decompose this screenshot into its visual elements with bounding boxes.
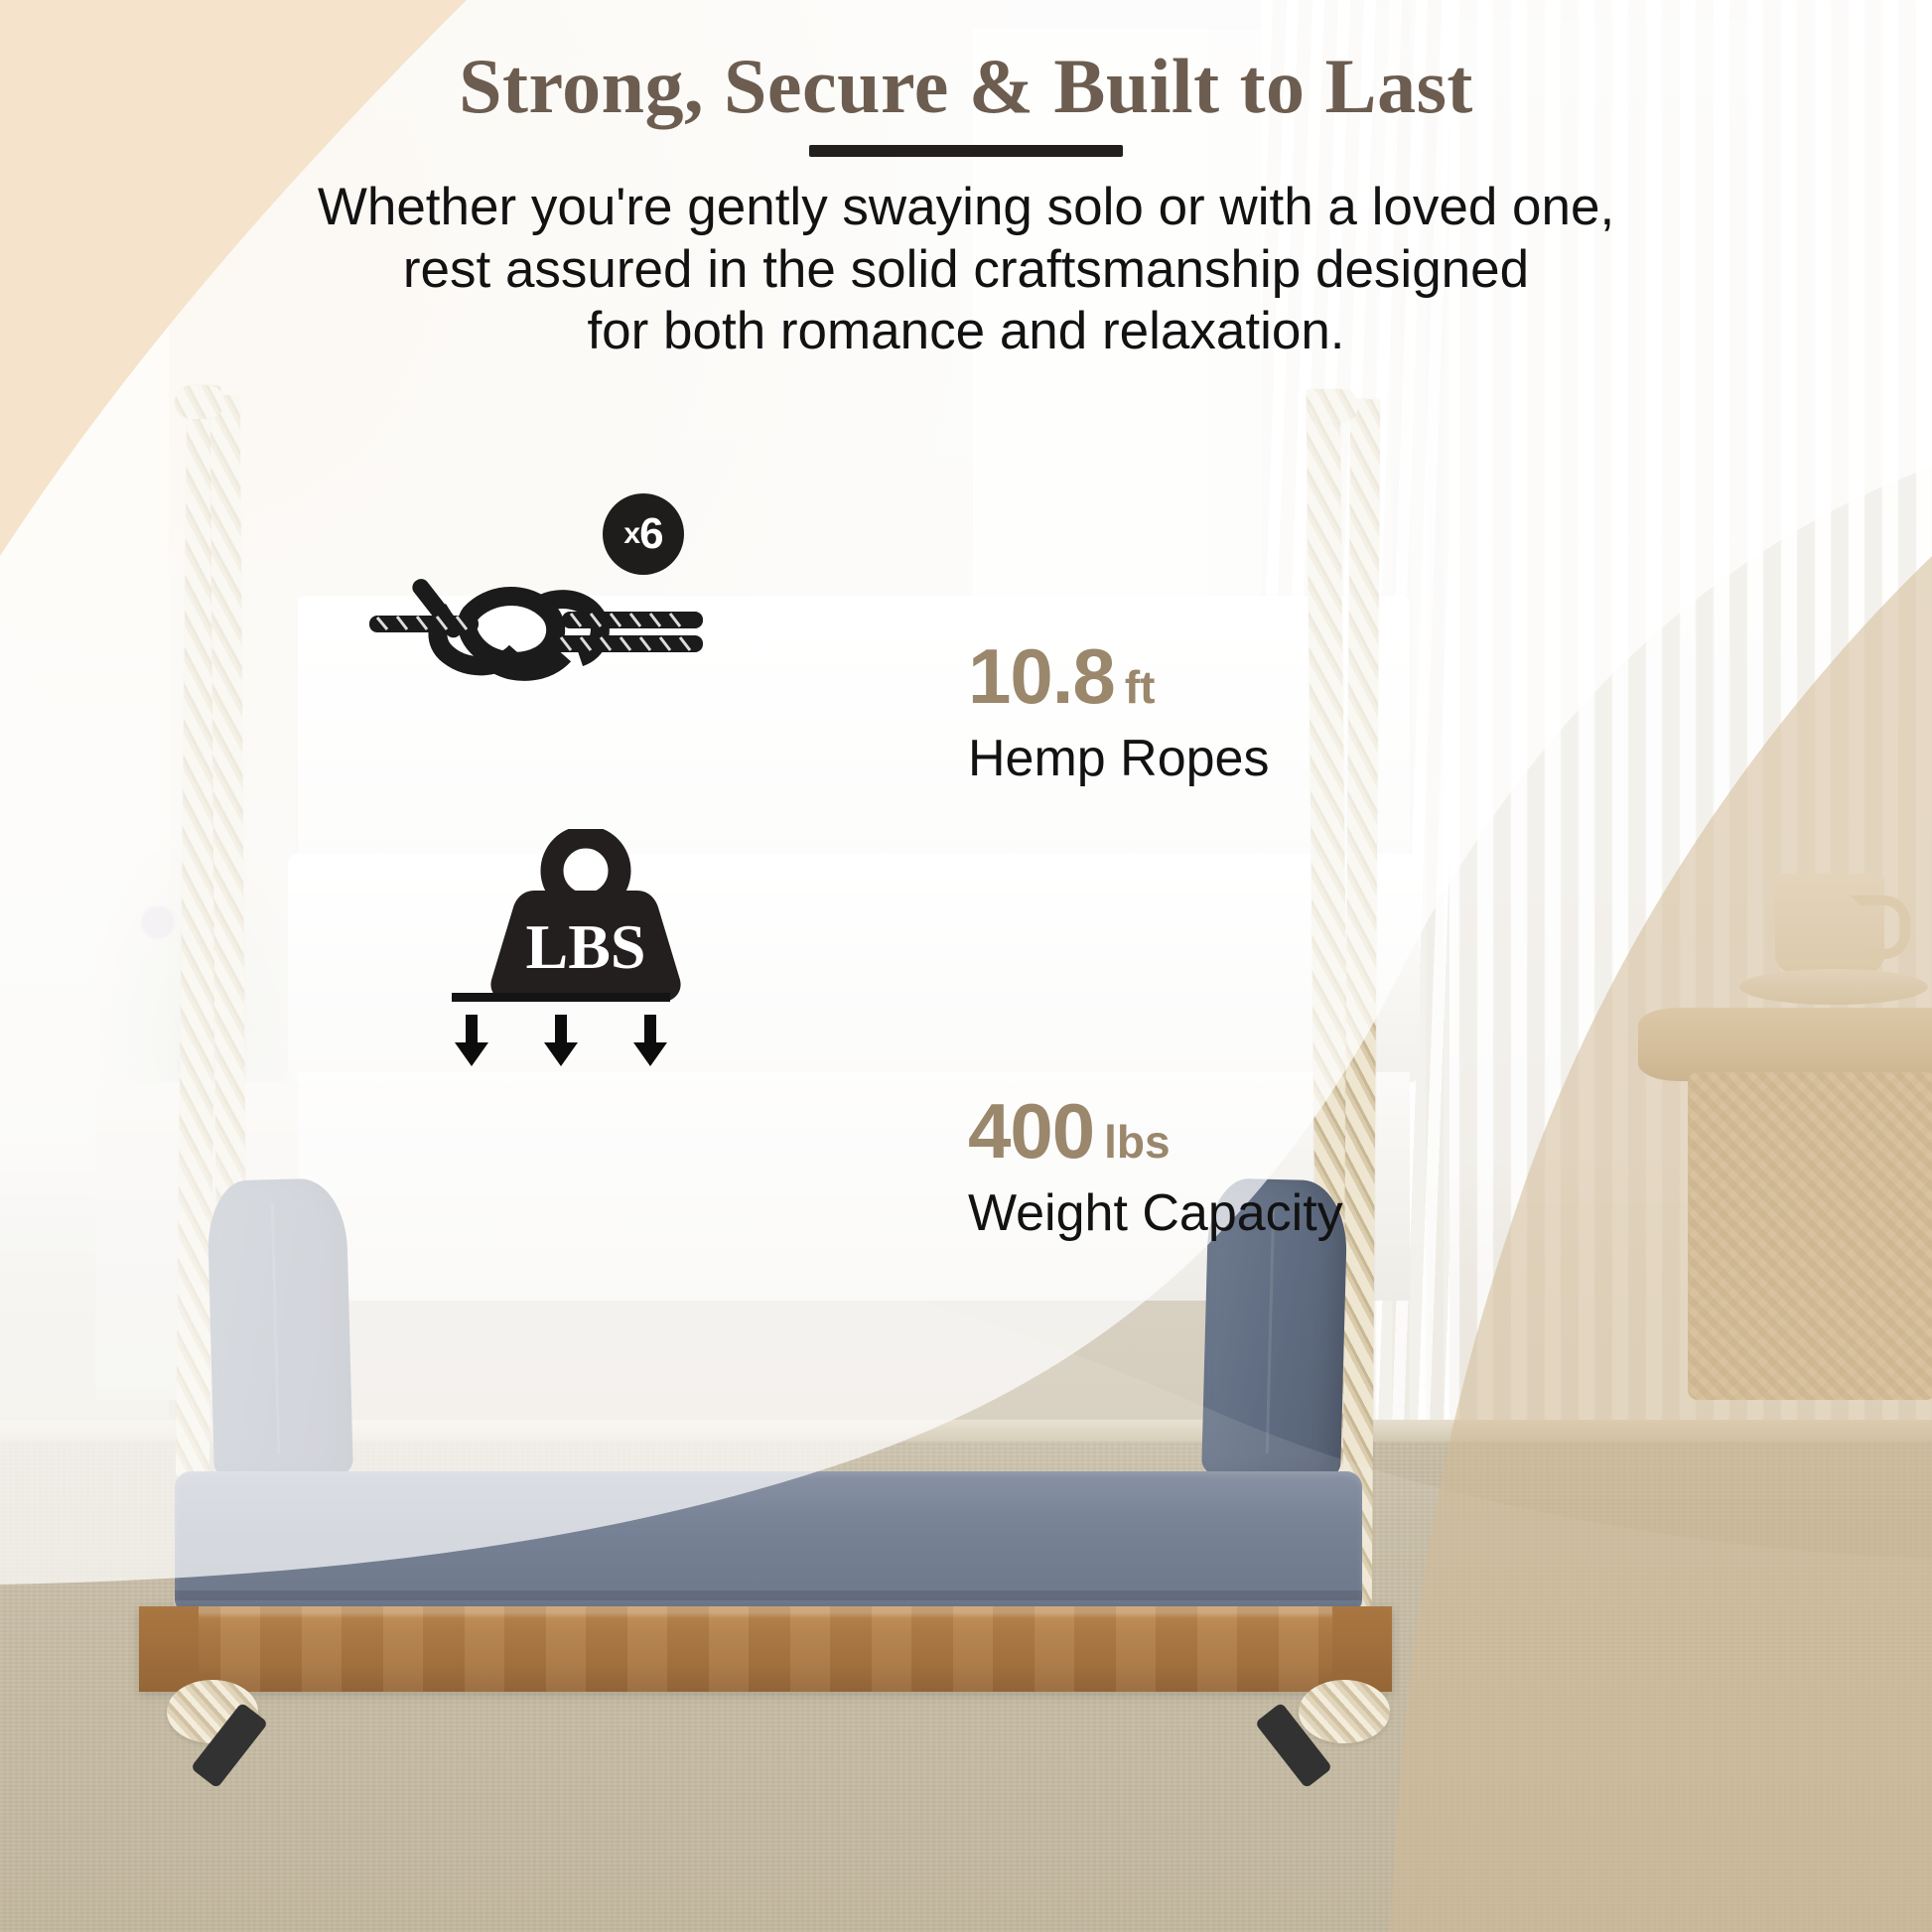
rope-count-badge: x6 <box>603 493 684 575</box>
side-table-top <box>1638 1008 1932 1081</box>
swing-wood-base-left-cap <box>139 1606 199 1692</box>
hemp-rope-length-unit: ft <box>1125 661 1156 713</box>
title-underline-rule <box>809 145 1123 157</box>
subtitle-line-2: rest assured in the solid craftsmanship … <box>0 239 1932 302</box>
weight-capacity-value: 400 <box>968 1087 1094 1174</box>
coffee-mug <box>1775 874 1884 973</box>
feature-weight-capacity: 400lbs Weight Capacity <box>968 1092 1343 1242</box>
page-title: Strong, Secure & Built to Last <box>0 46 1932 128</box>
subtitle-block: Whether you're gently swaying solo or wi… <box>0 177 1932 363</box>
downward-force-arrows <box>452 1015 670 1066</box>
weight-baseline-rule <box>452 993 670 1002</box>
swing-seat-cushion <box>175 1471 1362 1610</box>
mug-saucer <box>1739 969 1928 1005</box>
swing-wood-base <box>139 1606 1392 1692</box>
rope-knot-bottom-right <box>1299 1680 1390 1743</box>
weight-capacity: 400lbs <box>968 1092 1343 1170</box>
swing-pillow-left <box>207 1177 353 1479</box>
weight-capacity-unit: lbs <box>1104 1116 1170 1168</box>
subtitle-line-3: for both romance and relaxation. <box>0 301 1932 363</box>
hemp-rope-length-value: 10.8 <box>968 632 1115 720</box>
hemp-rope-label: Hemp Ropes <box>968 731 1269 787</box>
feature-hemp-ropes: 10.8ft Hemp Ropes <box>968 637 1269 787</box>
badge-count-value: 6 <box>639 509 662 559</box>
weight-icon-text: LBS <box>526 911 646 982</box>
rope-top-loop-right <box>1309 389 1358 423</box>
infographic-canvas: Strong, Secure & Built to Last Whether y… <box>0 0 1932 1932</box>
down-arrow-icon-3 <box>630 1015 670 1066</box>
rope-knot-icon <box>367 556 705 695</box>
subtitle-line-1: Whether you're gently swaying solo or wi… <box>0 177 1932 239</box>
weight-capacity-label: Weight Capacity <box>968 1185 1343 1242</box>
weight-lbs-icon: LBS <box>477 829 695 1008</box>
rattan-side-table <box>1688 1072 1932 1400</box>
hemp-rope-length: 10.8ft <box>968 637 1269 715</box>
rope-top-loop-left <box>175 385 224 419</box>
down-arrow-icon-1 <box>452 1015 491 1066</box>
down-arrow-icon-2 <box>541 1015 581 1066</box>
badge-multiplier-symbol: x <box>623 517 639 551</box>
